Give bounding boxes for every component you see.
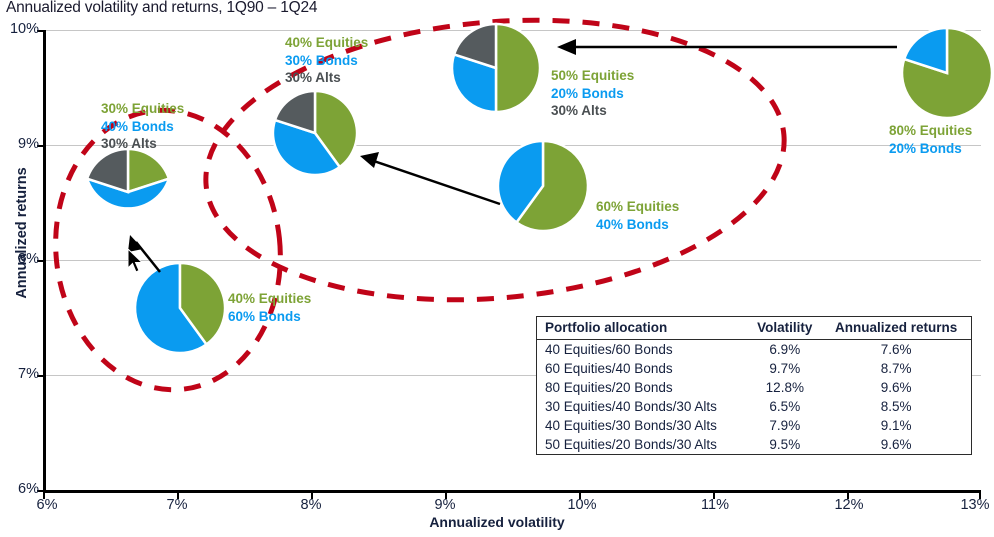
cell-volatility: 12.8% [748, 378, 821, 397]
chart-root: Annualized volatility and returns, 1Q90 … [0, 0, 994, 537]
pie-label-50eq-20bd-30alts: 50% Equities 20% Bonds 30% Alts [551, 67, 634, 120]
cell-allocation: 30 Equities/40 Bonds/30 Alts [537, 397, 748, 416]
pie-label-bonds: 40% Bonds [101, 118, 184, 136]
pie-label-alts: 30% Alts [285, 69, 368, 87]
pie-label-equities: 40% Equities [285, 34, 368, 52]
pie-label-equities: 80% Equities [889, 122, 972, 140]
cell-returns: 8.7% [821, 359, 971, 378]
pie-label-bonds: 40% Bonds [596, 216, 679, 234]
pie-label-80eq-20bd: 80% Equities 20% Bonds [889, 122, 972, 157]
pie-label-equities: 40% Equities [228, 290, 311, 308]
table-row: 40 Equities/30 Bonds/30 Alts 7.9% 9.1% [537, 416, 971, 435]
cell-allocation: 40 Equities/30 Bonds/30 Alts [537, 416, 748, 435]
cell-volatility: 7.9% [748, 416, 821, 435]
cell-volatility: 9.7% [748, 359, 821, 378]
cell-volatility: 9.5% [748, 435, 821, 454]
table-row: 60 Equities/40 Bonds 9.7% 8.7% [537, 359, 971, 378]
pie-label-alts: 30% Alts [551, 102, 634, 120]
pie-marker-30eq-40bd-30alts [87, 149, 169, 208]
pie-label-bonds: 60% Bonds [228, 308, 311, 326]
pie-label-30eq-40bd-30alts: 30% Equities 40% Bonds 30% Alts [101, 100, 184, 153]
portfolio-allocation-table: Portfolio allocation Volatility Annualiz… [536, 316, 972, 455]
arrow-to-40eq-pie [360, 152, 500, 204]
pie-label-40eq-30bd-30alts: 40% Equities 30% Bonds 30% Alts [285, 34, 368, 87]
pie-label-equities: 60% Equities [596, 198, 679, 216]
table-row: 50 Equities/20 Bonds/30 Alts 9.5% 9.6% [537, 435, 971, 454]
table-row: 40 Equities/60 Bonds 6.9% 7.6% [537, 340, 971, 360]
table-header-allocation: Portfolio allocation [537, 317, 748, 340]
cell-allocation: 50 Equities/20 Bonds/30 Alts [537, 435, 748, 454]
pie-marker-60eq-40bd [498, 141, 588, 231]
cell-returns: 9.6% [821, 435, 971, 454]
table-header-returns: Annualized returns [821, 317, 971, 340]
pie-marker-50eq-20bd-30alts [452, 24, 540, 112]
cell-returns: 9.6% [821, 378, 971, 397]
pie-label-equities: 50% Equities [551, 67, 634, 85]
pie-label-bonds: 20% Bonds [551, 85, 634, 103]
pie-label-bonds: 20% Bonds [889, 140, 972, 158]
cell-returns: 9.1% [821, 416, 971, 435]
cell-returns: 8.5% [821, 397, 971, 416]
pie-label-alts: 30% Alts [101, 135, 184, 153]
table-header-volatility: Volatility [748, 317, 821, 340]
cell-allocation: 80 Equities/20 Bonds [537, 378, 748, 397]
pie-label-60eq-40bd: 60% Equities 40% Bonds [596, 198, 679, 233]
cell-volatility: 6.5% [748, 397, 821, 416]
cell-volatility: 6.9% [748, 340, 821, 360]
cell-returns: 7.6% [821, 340, 971, 360]
arrow-to-50eq-pie [557, 39, 897, 55]
cell-allocation: 60 Equities/40 Bonds [537, 359, 748, 378]
pie-marker-40eq-60bd [135, 263, 225, 353]
pie-label-bonds: 30% Bonds [285, 52, 368, 70]
chart-graphics-layer [0, 0, 994, 537]
table-row: 30 Equities/40 Bonds/30 Alts 6.5% 8.5% [537, 397, 971, 416]
table-row: 80 Equities/20 Bonds 12.8% 9.6% [537, 378, 971, 397]
pie-label-40eq-60bd: 40% Equities 60% Bonds [228, 290, 311, 325]
pie-label-equities: 30% Equities [101, 100, 184, 118]
pie-marker-40eq-30bd-30alts [273, 90, 388, 209]
table-header-row: Portfolio allocation Volatility Annualiz… [537, 317, 971, 340]
pie-marker-80eq-20bd [902, 28, 992, 118]
mouse-cursor-icon [128, 249, 146, 275]
cell-allocation: 40 Equities/60 Bonds [537, 340, 748, 360]
